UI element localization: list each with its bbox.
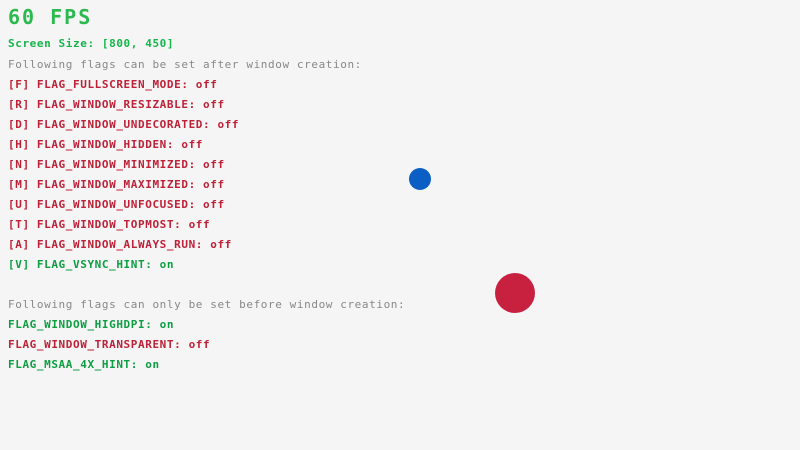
flag-row-flag_window_undecorated[interactable]: [D] FLAG_WINDOW_UNDECORATED: off: [8, 119, 239, 130]
fps-counter: 60 FPS: [8, 7, 92, 27]
flag-row-flag_msaa_4x_hint[interactable]: FLAG_MSAA_4X_HINT: on: [8, 359, 160, 370]
flag-row-flag_fullscreen_mode[interactable]: [F] FLAG_FULLSCREEN_MODE: off: [8, 79, 217, 90]
flag-row-flag_vsync_hint[interactable]: [V] FLAG_VSYNC_HINT: on: [8, 259, 174, 270]
flag-row-flag_window_unfocused[interactable]: [U] FLAG_WINDOW_UNFOCUSED: off: [8, 199, 225, 210]
flag-row-flag_window_highdpi[interactable]: FLAG_WINDOW_HIGHDPI: on: [8, 319, 174, 330]
flag-row-flag_window_resizable[interactable]: [R] FLAG_WINDOW_RESIZABLE: off: [8, 99, 225, 110]
flag-row-flag_window_transparent[interactable]: FLAG_WINDOW_TRANSPARENT: off: [8, 339, 210, 350]
flag-row-flag_window_hidden[interactable]: [H] FLAG_WINDOW_HIDDEN: off: [8, 139, 203, 150]
screen-size-label: Screen Size: [800, 450]: [8, 38, 174, 49]
flag-row-flag_window_minimized[interactable]: [N] FLAG_WINDOW_MINIMIZED: off: [8, 159, 225, 170]
section-header-before-creation: Following flags can only be set before w…: [8, 299, 405, 310]
circle-blue: [409, 168, 431, 190]
flag-row-flag_window_topmost[interactable]: [T] FLAG_WINDOW_TOPMOST: off: [8, 219, 210, 230]
flag-row-flag_window_always_run[interactable]: [A] FLAG_WINDOW_ALWAYS_RUN: off: [8, 239, 232, 250]
flag-row-flag_window_maximized[interactable]: [M] FLAG_WINDOW_MAXIMIZED: off: [8, 179, 225, 190]
raylib-canvas: 60 FPS Screen Size: [800, 450] Following…: [0, 0, 800, 450]
section-header-after-creation: Following flags can be set after window …: [8, 59, 362, 70]
circle-red: [495, 273, 535, 313]
